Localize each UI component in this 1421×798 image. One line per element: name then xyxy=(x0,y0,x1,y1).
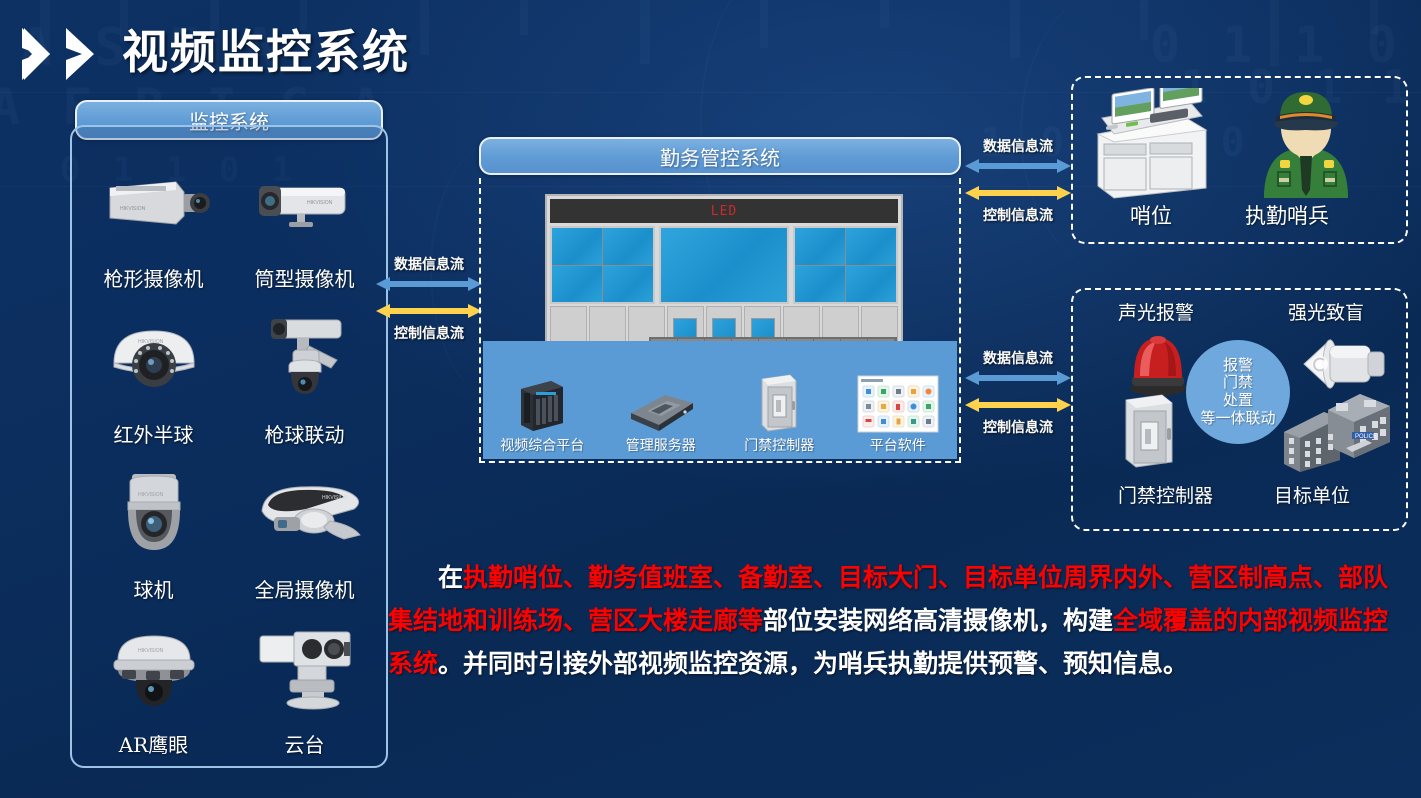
flow-arrows-right-top: 数据信息流 控制信息流 xyxy=(964,140,1072,225)
flow-arrows-right-bottom: 数据信息流 控制信息流 xyxy=(964,352,1072,437)
page-title-block: 视频监控系统 xyxy=(22,22,410,82)
screen-cell xyxy=(603,228,653,265)
camera-label: 云台 xyxy=(285,734,325,756)
data-flow-arrow-icon xyxy=(376,276,482,292)
double-chevron-icon xyxy=(22,26,108,82)
led-banner: LED xyxy=(550,199,898,223)
screen-cell xyxy=(603,266,653,303)
svg-text:HIKVISION: HIKVISION xyxy=(138,492,164,498)
circle-line-3: 处置 xyxy=(1223,392,1253,410)
camera-label: 筒型摄像机 xyxy=(255,268,355,290)
access-controller-label: 门禁控制器 xyxy=(1118,481,1213,508)
svg-text:HIKVISION: HIKVISION xyxy=(138,648,164,654)
flow-label-control: 控制信息流 xyxy=(964,209,1072,224)
target-unit-building-icon: POLICE xyxy=(1280,388,1398,481)
data-flow-arrow-icon xyxy=(965,158,1071,174)
ar-eagle-eye-camera-icon: HIKVISION xyxy=(78,603,229,734)
equipment-label: 平台软件 xyxy=(870,435,926,455)
pan-tilt-camera-icon xyxy=(229,603,380,734)
screen-cell xyxy=(846,228,896,265)
equipment-item-management-server[interactable]: 管理服务器 xyxy=(602,371,721,455)
equipment-label: 管理服务器 xyxy=(626,435,696,455)
circle-line-2: 门禁 xyxy=(1223,374,1253,392)
platform-software-icon xyxy=(857,371,939,433)
equipment-row: 视频综合平台 管理服务器 xyxy=(483,371,957,455)
control-flow-arrow-icon xyxy=(965,185,1071,201)
camera-item-pan-tilt[interactable]: 云台 xyxy=(229,603,380,758)
equipment-item-video-platform[interactable]: 视频综合平台 xyxy=(483,371,602,455)
screen-cell xyxy=(846,266,896,303)
svg-text:HIKVISION: HIKVISION xyxy=(322,495,348,501)
camera-item-bullet[interactable]: HIKVISION 筒型摄像机 xyxy=(229,137,380,292)
management-server-icon xyxy=(625,371,697,433)
screen-cell xyxy=(795,228,845,265)
sentry-post-label: 哨位 xyxy=(1130,200,1172,230)
gun-ball-linkage-camera-icon xyxy=(229,292,380,423)
screen-main-center xyxy=(659,226,789,304)
duty-control-center-panel: LED xyxy=(479,178,961,463)
screen-cell xyxy=(552,228,602,265)
access-controller-cabinet-icon xyxy=(1118,392,1180,475)
surveillance-camera-panel: HIKVISION 枪形摄像机 HIKVISION xyxy=(70,125,388,768)
camera-item-box[interactable]: HIKVISION 枪形摄像机 xyxy=(78,137,229,292)
svg-text:HIKVISION: HIKVISION xyxy=(138,339,164,345)
screen-quad-left xyxy=(550,226,655,304)
control-flow-arrow-icon xyxy=(965,397,1071,413)
ptz-dome-camera-icon: HIKVISION xyxy=(78,448,229,579)
strong-light-blinder-label: 强光致盲 xyxy=(1288,298,1364,325)
equipment-label: 门禁控制器 xyxy=(744,435,814,455)
svg-text:HIKVISION: HIKVISION xyxy=(120,206,146,212)
camera-label: 枪形摄像机 xyxy=(104,268,204,290)
video-platform-rack-icon xyxy=(513,371,571,433)
camera-item-panoramic[interactable]: HIKVISION 全局摄像机 xyxy=(229,448,380,603)
screen-quad-right xyxy=(793,226,898,304)
flow-label-data: 数据信息流 xyxy=(375,258,483,273)
video-wall: LED xyxy=(545,194,903,359)
duty-sentry-label: 执勤哨兵 xyxy=(1245,200,1329,230)
circle-line-1: 报警 xyxy=(1223,357,1253,375)
flow-label-data: 数据信息流 xyxy=(964,140,1072,155)
screen-cell xyxy=(552,266,602,303)
slide-canvas: A S I A A F R I C A 0 1 1 0 1 0 1 1 1 0 … xyxy=(0,0,1421,798)
data-flow-arrow-icon xyxy=(965,370,1071,386)
control-room-floor: 视频综合平台 管理服务器 xyxy=(483,341,957,459)
paragraph-seg-plain-1: 在 xyxy=(438,563,463,592)
camera-item-ar-eagle-eye[interactable]: HIKVISION AR鹰眼 xyxy=(78,603,229,758)
video-wall-screens xyxy=(550,226,898,304)
camera-label: 球机 xyxy=(134,579,174,601)
ir-dome-camera-icon: HIKVISION xyxy=(78,292,229,423)
sentry-console-icon xyxy=(1088,88,1216,205)
equipment-item-access-controller[interactable]: 门禁控制器 xyxy=(720,371,839,455)
flow-label-data: 数据信息流 xyxy=(964,352,1072,367)
flow-label-control: 控制信息流 xyxy=(375,327,483,342)
camera-label: AR鹰眼 xyxy=(119,734,189,756)
camera-item-ptz-dome[interactable]: HIKVISION 球机 xyxy=(78,448,229,603)
camera-grid: HIKVISION 枪形摄像机 HIKVISION xyxy=(78,137,380,758)
equipment-item-platform-software[interactable]: 平台软件 xyxy=(839,371,958,455)
integrated-linkage-circle: 报警 门禁 处置 等一体联动 xyxy=(1186,340,1290,444)
camera-label: 全局摄像机 xyxy=(255,579,355,601)
camera-label: 红外半球 xyxy=(114,424,194,446)
paragraph-seg-plain-2: 部位安装网络高清摄像机，构建 xyxy=(763,606,1113,635)
svg-text:POLICE: POLICE xyxy=(1355,434,1377,440)
svg-text:HIKVISION: HIKVISION xyxy=(307,200,333,206)
access-controller-cabinet-icon xyxy=(756,371,802,433)
circle-line-4: 等一体联动 xyxy=(1200,410,1275,428)
control-flow-arrow-icon xyxy=(376,303,482,319)
flow-label-control: 控制信息流 xyxy=(964,421,1072,436)
panoramic-camera-icon: HIKVISION xyxy=(229,448,380,579)
center-panel-header: 勤务管控系统 xyxy=(479,137,961,175)
duty-sentry-avatar-icon xyxy=(1250,86,1362,205)
alarm-beacon-label: 声光报警 xyxy=(1118,298,1194,325)
box-camera-icon: HIKVISION xyxy=(78,137,229,268)
description-paragraph: 在执勤哨位、勤务值班室、备勤室、目标大门、目标单位周界内外、营区制高点、部队集结… xyxy=(388,556,1408,685)
camera-item-gun-ball[interactable]: 枪球联动 xyxy=(229,292,380,447)
camera-item-ir-dome[interactable]: HIKVISION 红外半球 xyxy=(78,292,229,447)
camera-label: 枪球联动 xyxy=(265,424,345,446)
target-unit-label: 目标单位 xyxy=(1274,481,1350,508)
center-panel-header-label: 勤务管控系统 xyxy=(660,142,780,171)
flow-arrows-left: 数据信息流 控制信息流 xyxy=(375,258,483,343)
equipment-label: 视频综合平台 xyxy=(500,435,584,455)
screen-cell xyxy=(795,266,845,303)
paragraph-seg-plain-3: 。并同时引接外部视频监控资源，为哨兵执勤提供预警、预知信息。 xyxy=(438,649,1188,678)
bullet-camera-icon: HIKVISION xyxy=(229,137,380,268)
page-title: 视频监控系统 xyxy=(122,29,410,75)
